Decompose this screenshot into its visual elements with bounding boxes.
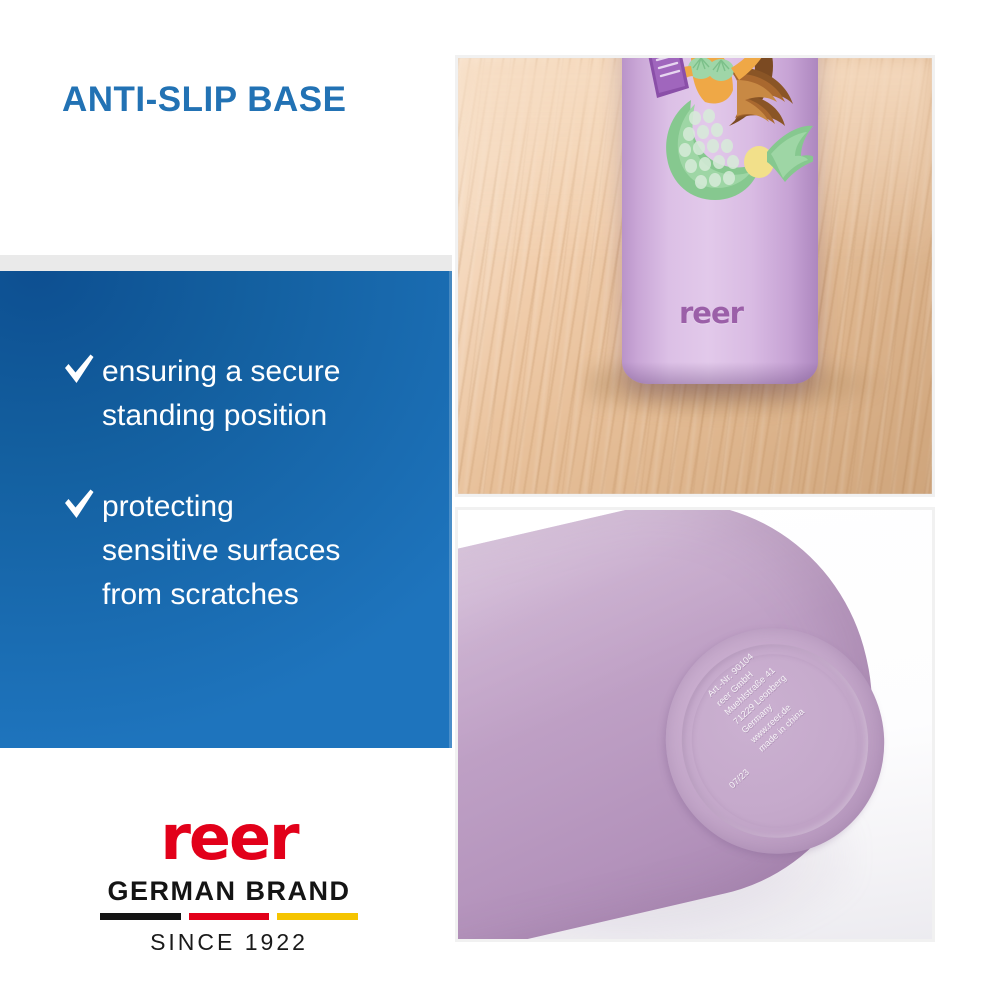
product-feature-slide: ANTI-SLIP BASE ensuring a secure standin… (0, 0, 1000, 1000)
photo-bottle-base-close-up: Art.-Nr. 90104 reer GmbH Muehlstraße 41 … (455, 507, 935, 942)
flag-bar-gold (277, 913, 358, 920)
feature-item-2: protecting sensitive surfaces from scrat… (62, 485, 340, 617)
page-title: ANTI-SLIP BASE (62, 80, 346, 120)
mermaid-icon (633, 55, 813, 224)
photo-bottle-standing-on-wood: reer (455, 55, 935, 497)
german-flag-bars (100, 913, 358, 920)
brand-logo: reer GERMAN BRAND SINCE 1922 (100, 806, 358, 956)
divider-band (0, 255, 452, 271)
logo-wordmark: reer (100, 806, 358, 870)
engraving-date-code: 07/23 (727, 767, 751, 790)
flag-bar-black (100, 913, 181, 920)
flag-bar-red (189, 913, 270, 920)
feature-item-1: ensuring a secure standing position (62, 350, 340, 438)
logo-since-line: SINCE 1922 (100, 929, 358, 956)
check-icon (62, 350, 102, 386)
feature-item-2-label: protecting sensitive surfaces from scrat… (102, 485, 340, 617)
feature-item-1-label: ensuring a secure standing position (102, 350, 340, 438)
check-icon (62, 485, 102, 521)
bottle-wordmark: reer (679, 296, 743, 330)
logo-brand-line: GERMAN BRAND (100, 876, 358, 907)
